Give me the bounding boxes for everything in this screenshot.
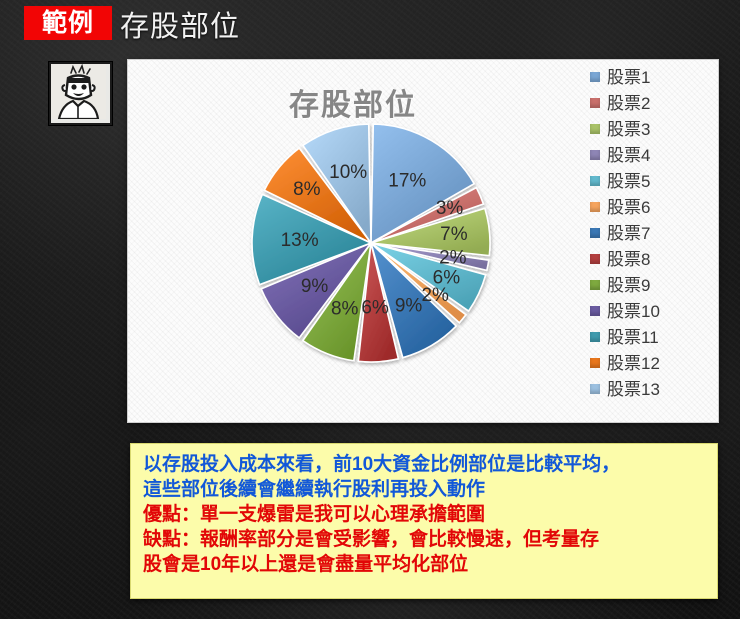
chart-legend: 股票1股票2股票3股票4股票5股票6股票7股票8股票9股票10股票11股票12股…	[590, 64, 708, 402]
note-line: 缺點：報酬率部分是會受影響，會比較慢速，但考量存	[143, 527, 707, 552]
legend-item[interactable]: 股票6	[590, 194, 708, 220]
legend-item[interactable]: 股票10	[590, 298, 708, 324]
legend-swatch	[590, 280, 600, 290]
pie-slice-label: 8%	[293, 179, 321, 200]
example-badge-label: 範例	[42, 11, 94, 36]
note-line: 以存股投入成本來看，前10大資金比例部位是比較平均，	[143, 452, 707, 477]
note-line: 優點：單一支爆雷是我可以心理承擔範圍	[143, 502, 707, 527]
legend-swatch	[590, 72, 600, 82]
legend-label: 股票3	[607, 121, 650, 138]
pie-slice-label: 17%	[388, 171, 426, 192]
legend-swatch	[590, 150, 600, 160]
legend-swatch	[590, 306, 600, 316]
legend-label: 股票1	[607, 69, 650, 86]
example-badge: 範例	[24, 6, 112, 40]
page-title: 存股部位	[120, 3, 240, 45]
legend-label: 股票6	[607, 199, 650, 216]
note-line: 這些部位後續會繼續執行股利再投入動作	[143, 477, 707, 502]
pie-slice-label: 7%	[440, 224, 468, 245]
legend-item[interactable]: 股票3	[590, 116, 708, 142]
legend-label: 股票12	[607, 355, 660, 372]
pie-slice-label: 2%	[439, 248, 467, 269]
legend-label: 股票10	[607, 303, 660, 320]
page-header: 範例 存股部位	[0, 0, 740, 52]
pie-slice-label: 2%	[421, 285, 449, 306]
legend-label: 股票8	[607, 251, 650, 268]
legend-item[interactable]: 股票1	[590, 64, 708, 90]
pie-slice-label: 8%	[331, 298, 359, 319]
chart-panel: 存股部位 17%3%7%2%6%2%9%6%8%9%13%8%10% 股票1股票…	[128, 60, 718, 422]
legend-item[interactable]: 股票5	[590, 168, 708, 194]
legend-swatch	[590, 202, 600, 212]
note-line: 股會是10年以上還是會盡量平均化部位	[143, 552, 707, 577]
avatar	[49, 62, 112, 125]
pie-chart: 17%3%7%2%6%2%9%6%8%9%13%8%10%	[246, 118, 496, 368]
legend-label: 股票13	[607, 381, 660, 398]
legend-label: 股票4	[607, 147, 650, 164]
legend-swatch	[590, 332, 600, 342]
legend-swatch	[590, 124, 600, 134]
legend-item[interactable]: 股票11	[590, 324, 708, 350]
legend-swatch	[590, 98, 600, 108]
legend-label: 股票11	[607, 329, 659, 346]
note-box: 以存股投入成本來看，前10大資金比例部位是比較平均，這些部位後續會繼續執行股利再…	[130, 443, 718, 599]
legend-swatch	[590, 254, 600, 264]
legend-label: 股票7	[607, 225, 650, 242]
legend-item[interactable]: 股票7	[590, 220, 708, 246]
legend-swatch	[590, 176, 600, 186]
legend-label: 股票5	[607, 173, 650, 190]
pie-slice-label: 3%	[436, 198, 464, 219]
legend-item[interactable]: 股票9	[590, 272, 708, 298]
cartoon-face-icon	[51, 64, 106, 119]
legend-label: 股票2	[607, 95, 650, 112]
pie-slice-label: 13%	[281, 230, 319, 251]
pie-slice-label: 10%	[329, 162, 367, 183]
legend-item[interactable]: 股票8	[590, 246, 708, 272]
legend-swatch	[590, 228, 600, 238]
legend-item[interactable]: 股票12	[590, 350, 708, 376]
legend-label: 股票9	[607, 277, 650, 294]
legend-swatch	[590, 384, 600, 394]
pie-slice-label: 9%	[301, 276, 329, 297]
pie-slice-label: 9%	[395, 296, 423, 317]
legend-swatch	[590, 358, 600, 368]
pie-slice-label: 6%	[361, 297, 389, 318]
legend-item[interactable]: 股票2	[590, 90, 708, 116]
legend-item[interactable]: 股票13	[590, 376, 708, 402]
legend-item[interactable]: 股票4	[590, 142, 708, 168]
